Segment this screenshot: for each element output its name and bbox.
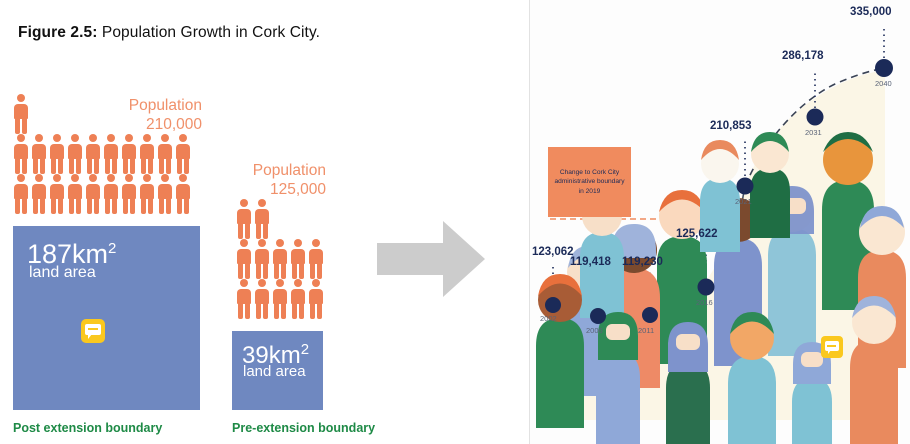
data-point-2006 [590, 308, 606, 324]
post-people-pictogram [13, 94, 191, 214]
data-point-2031 [807, 109, 824, 126]
transition-arrow-icon [377, 221, 485, 297]
data-point-2040 [875, 59, 893, 77]
person-pictogram-icon [139, 174, 155, 214]
person-pictogram-icon [49, 134, 65, 174]
value-label-2040: 335,000 [850, 6, 892, 18]
value-label-2002: 123,062 [532, 246, 574, 258]
people-row [13, 94, 191, 134]
person-pictogram-icon [175, 174, 191, 214]
pre-extension-boundary-label: Pre-extension boundary [232, 421, 375, 435]
person-pictogram-icon [272, 239, 288, 279]
people-row [236, 239, 324, 279]
year-label-2011: 2011 [638, 326, 654, 335]
post-land-area-box: 187km2 land area [13, 226, 200, 410]
person-pictogram-icon [103, 134, 119, 174]
person-pictogram-icon [254, 279, 270, 319]
data-point-2002 [545, 297, 561, 313]
person-pictogram-icon [157, 174, 173, 214]
person-pictogram-icon [13, 134, 29, 174]
person-pictogram-icon [67, 174, 83, 214]
person-pictogram-icon [31, 174, 47, 214]
person-pictogram-icon [290, 279, 306, 319]
people-row [13, 134, 191, 174]
people-row [236, 199, 324, 239]
pre-land-area-box: 39km2 land area [232, 331, 323, 410]
person-pictogram-icon [85, 134, 101, 174]
comparison-infographic: Population 210,000 187km2 land area Post… [0, 0, 520, 444]
value-label-2016: 125,622 [676, 228, 718, 240]
population-growth-chart: 123,062 119,418 119,230 125,622 210,853 … [529, 0, 910, 444]
speech-bubble-icon [81, 319, 105, 343]
data-point-2021 [737, 178, 754, 195]
person-pictogram-icon [308, 279, 324, 319]
year-label-2016: 2016 [696, 298, 713, 307]
person-pictogram-icon [13, 174, 29, 214]
person-pictogram-icon [236, 239, 252, 279]
person-pictogram-icon [254, 199, 270, 239]
person-pictogram-icon [67, 134, 83, 174]
value-label-2006: 119,418 [570, 256, 611, 268]
value-label-2031: 286,178 [782, 50, 824, 62]
person-pictogram-icon [290, 239, 306, 279]
people-row [236, 279, 324, 319]
year-label-2006: 2006 [586, 326, 603, 335]
person-pictogram-icon [272, 279, 288, 319]
pre-people-pictogram [236, 199, 324, 319]
data-point-2011 [642, 307, 658, 323]
person-pictogram-icon [121, 134, 137, 174]
person-pictogram-icon [236, 279, 252, 319]
person-pictogram-icon [31, 134, 47, 174]
year-label-2040: 2040 [875, 79, 892, 88]
post-extension-boundary-label: Post extension boundary [13, 421, 162, 435]
person-pictogram-icon [254, 239, 270, 279]
person-pictogram-icon [49, 174, 65, 214]
person-pictogram-icon [85, 174, 101, 214]
person-pictogram-icon [139, 134, 155, 174]
person-pictogram-icon [157, 134, 173, 174]
value-label-2021: 210,853 [710, 120, 752, 132]
year-label-2021: 2021 [735, 197, 752, 206]
pre-population-value: 125,000 [236, 180, 326, 199]
person-pictogram-icon [121, 174, 137, 214]
chart-canvas [530, 0, 910, 444]
person-pictogram-icon [236, 199, 252, 239]
pre-population-caption: Population 125,000 [236, 161, 326, 199]
pre-population-label: Population [236, 161, 326, 180]
speech-bubble-icon [821, 336, 843, 358]
person-pictogram-icon [103, 174, 119, 214]
person-pictogram-icon [308, 239, 324, 279]
year-label-2031: 2031 [805, 128, 822, 137]
pre-land-area-label: land area [243, 363, 306, 380]
data-point-2016 [698, 279, 715, 296]
person-pictogram-icon [175, 134, 191, 174]
person-pictogram-icon [13, 94, 29, 134]
people-row [13, 174, 191, 214]
boundary-change-note: Change to Cork City administrative bound… [548, 147, 631, 217]
year-label-2002: 2002 [540, 314, 557, 323]
value-label-2011: 119,230 [622, 256, 663, 268]
post-land-area-label: land area [29, 264, 96, 282]
